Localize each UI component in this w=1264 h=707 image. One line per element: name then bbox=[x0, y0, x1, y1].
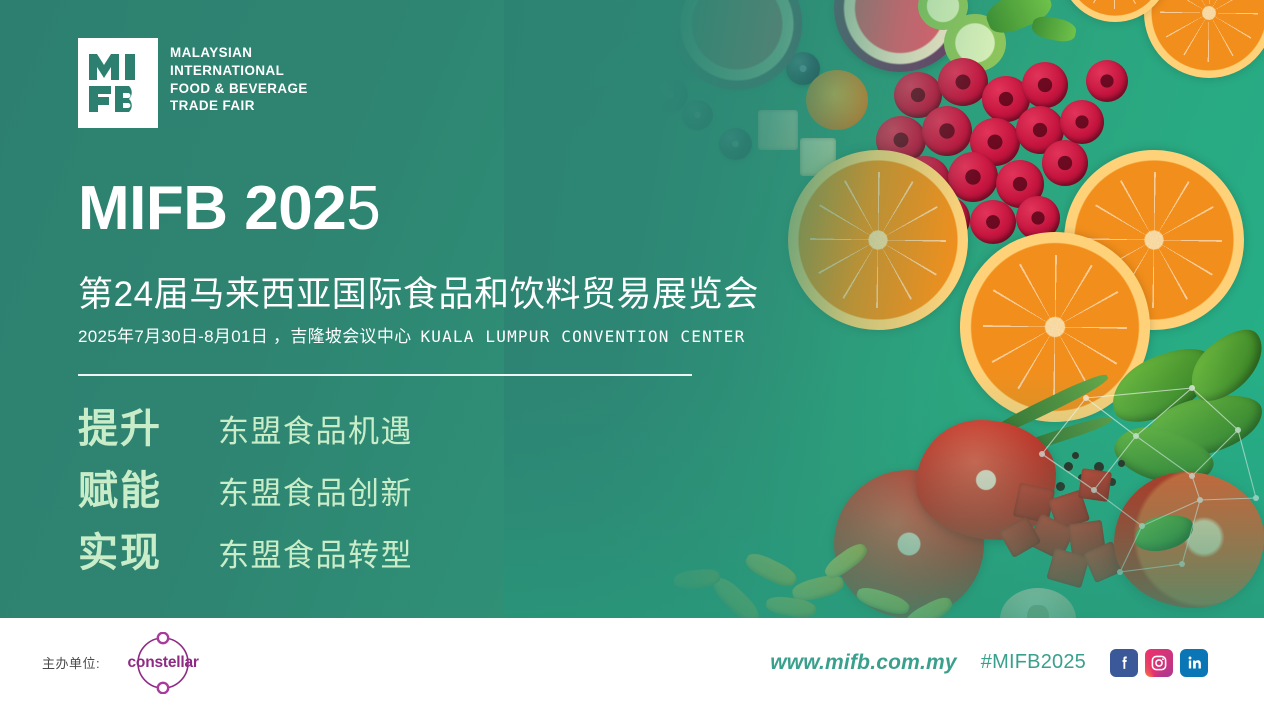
event-title-year-thin: 5 bbox=[346, 174, 380, 243]
diced-fruit-icon bbox=[758, 110, 798, 150]
organiser-block: 主办单位: constellar bbox=[42, 618, 212, 707]
raspberry-icon bbox=[938, 58, 988, 106]
event-subtitle-cn: 第24届马来西亚国际食品和饮料贸易展览会 bbox=[78, 266, 759, 317]
facebook-icon[interactable] bbox=[1110, 649, 1138, 677]
event-dateline: 2025年7月30日-8月01日 ，吉隆坡会议中心 KUALA LUMPUR C… bbox=[78, 322, 745, 347]
blueberry-icon bbox=[719, 128, 752, 160]
event-title-bold: MIFB 202 bbox=[78, 174, 346, 243]
orange-slice-icon bbox=[1144, 0, 1264, 78]
mifb-logo-mark-icon bbox=[78, 38, 158, 128]
logo-line-2: INTERNATIONAL bbox=[170, 62, 308, 80]
slogan-row: 赋能 东盟食品创新 bbox=[78, 458, 413, 520]
mushroom-icon bbox=[1000, 588, 1076, 618]
footer-links-block: www.mifb.com.my #MIFB2025 bbox=[770, 618, 1208, 707]
website-link[interactable]: www.mifb.com.my bbox=[770, 651, 957, 675]
hashtag-label: #MIFB2025 bbox=[981, 651, 1086, 674]
raspberry-icon bbox=[1086, 60, 1128, 102]
event-title: MIFB 2025 bbox=[78, 178, 380, 240]
raspberry-icon bbox=[1042, 140, 1088, 186]
slogan-verb: 赋能 bbox=[78, 458, 218, 516]
carrot-slice-icon bbox=[806, 70, 868, 130]
mifb-2025-banner: MALAYSIAN INTERNATIONAL FOOD & BEVERAGE … bbox=[0, 0, 1264, 707]
mifb-logo-wordmark: MALAYSIAN INTERNATIONAL FOOD & BEVERAGE … bbox=[170, 38, 308, 115]
social-links bbox=[1110, 649, 1208, 677]
slogan-verb: 实现 bbox=[78, 520, 218, 578]
constellar-logo[interactable]: constellar bbox=[114, 632, 212, 694]
footer-bar: 主办单位: constellar www.mifb.com.my #MIFB20… bbox=[0, 618, 1264, 707]
hero-divider bbox=[78, 374, 692, 376]
instagram-icon[interactable] bbox=[1145, 649, 1173, 677]
hero-section: MALAYSIAN INTERNATIONAL FOOD & BEVERAGE … bbox=[0, 0, 1264, 618]
fusilli-pasta-icon bbox=[742, 549, 799, 591]
slogan-text: 东盟食品创新 bbox=[218, 468, 413, 513]
raspberry-icon bbox=[970, 200, 1016, 244]
blueberry-icon bbox=[682, 100, 713, 130]
parsley-icon bbox=[1030, 14, 1078, 45]
orange-slice-icon bbox=[788, 150, 968, 330]
logo-line-1: MALAYSIAN bbox=[170, 44, 308, 62]
slogan-text: 东盟食品转型 bbox=[218, 530, 413, 575]
mifb-logo-lockup: MALAYSIAN INTERNATIONAL FOOD & BEVERAGE … bbox=[78, 38, 308, 128]
event-venue-en: KUALA LUMPUR CONVENTION CENTER bbox=[420, 327, 745, 346]
event-date-venue-cn: 2025年7月30日-8月01日 ，吉隆坡会议中心 bbox=[78, 322, 411, 347]
slogan-row: 提升 东盟食品机遇 bbox=[78, 396, 413, 458]
slogan-list: 提升 东盟食品机遇 赋能 东盟食品创新 实现 东盟食品转型 bbox=[78, 396, 413, 582]
raspberry-icon bbox=[922, 106, 972, 156]
organiser-label: 主办单位: bbox=[42, 653, 100, 672]
slogan-row: 实现 东盟食品转型 bbox=[78, 520, 413, 582]
blueberry-icon bbox=[652, 78, 688, 112]
logo-line-4: TRADE FAIR bbox=[170, 97, 308, 115]
raspberry-icon bbox=[1060, 100, 1104, 144]
logo-line-3: FOOD & BEVERAGE bbox=[170, 80, 308, 98]
linkedin-icon[interactable] bbox=[1180, 649, 1208, 677]
slogan-text: 东盟食品机遇 bbox=[218, 406, 413, 451]
slogan-verb: 提升 bbox=[78, 396, 218, 454]
raspberry-icon bbox=[1022, 62, 1068, 108]
network-overlay-graphic bbox=[1024, 358, 1264, 588]
constellar-wordmark: constellar bbox=[114, 654, 212, 672]
